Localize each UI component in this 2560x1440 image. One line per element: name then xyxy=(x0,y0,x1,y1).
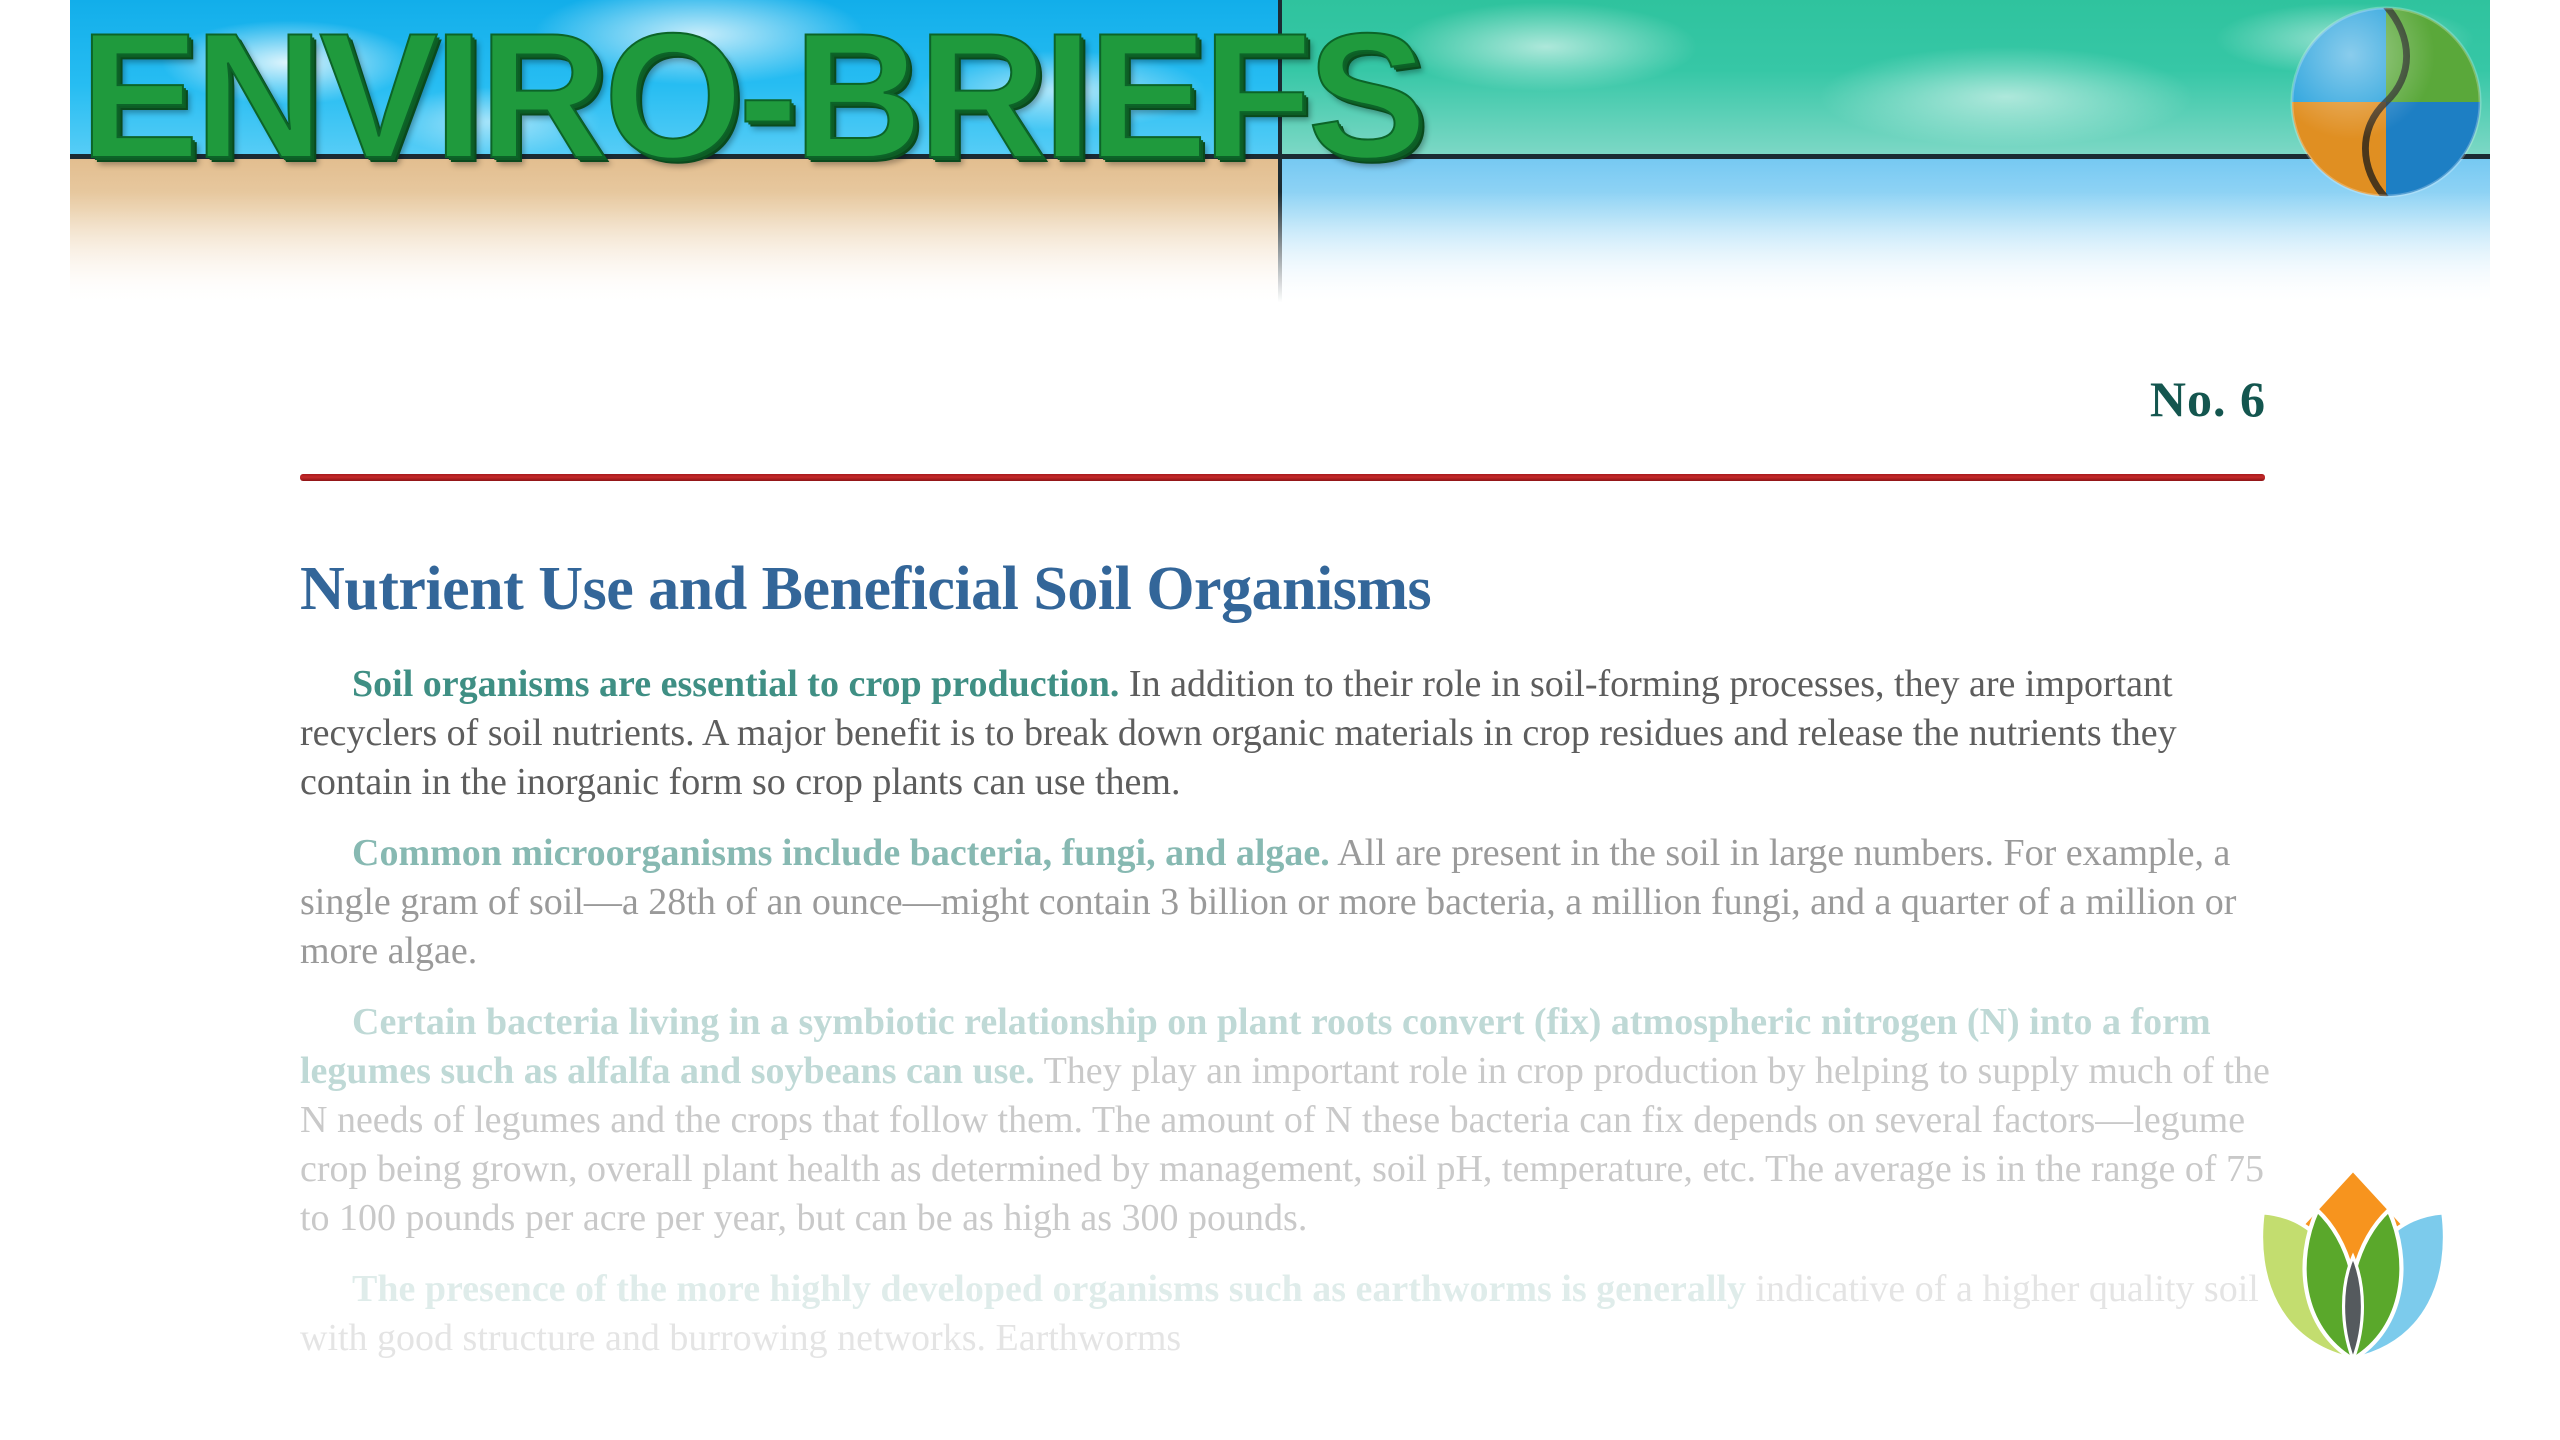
masthead-title: ENVIRO-BRIEFS xyxy=(70,0,2270,196)
issue-number: No. 6 xyxy=(2150,370,2266,428)
masthead-banner: ENVIRO-BRIEFS xyxy=(70,0,2490,312)
globe-icon xyxy=(2288,4,2484,200)
paragraph-1-lead: Soil organisms are essential to crop pro… xyxy=(352,663,1119,705)
title-divider-rule xyxy=(300,474,2265,481)
paragraph-4: The presence of the more highly develope… xyxy=(300,1265,2280,1363)
paragraph-4-lead: The presence of the more highly develope… xyxy=(352,1268,1746,1310)
paragraph-1: Soil organisms are essential to crop pro… xyxy=(300,660,2280,807)
paragraph-3: Certain bacteria living in a symbiotic r… xyxy=(300,998,2280,1243)
paragraph-2-lead: Common microorganisms include bacteria, … xyxy=(352,832,1330,874)
page-title: Nutrient Use and Beneficial Soil Organis… xyxy=(300,554,1431,625)
lotus-leaf-logo xyxy=(2248,1168,2458,1368)
paragraph-2: Common microorganisms include bacteria, … xyxy=(300,829,2280,976)
article-body: Soil organisms are essential to crop pro… xyxy=(300,660,2280,1385)
